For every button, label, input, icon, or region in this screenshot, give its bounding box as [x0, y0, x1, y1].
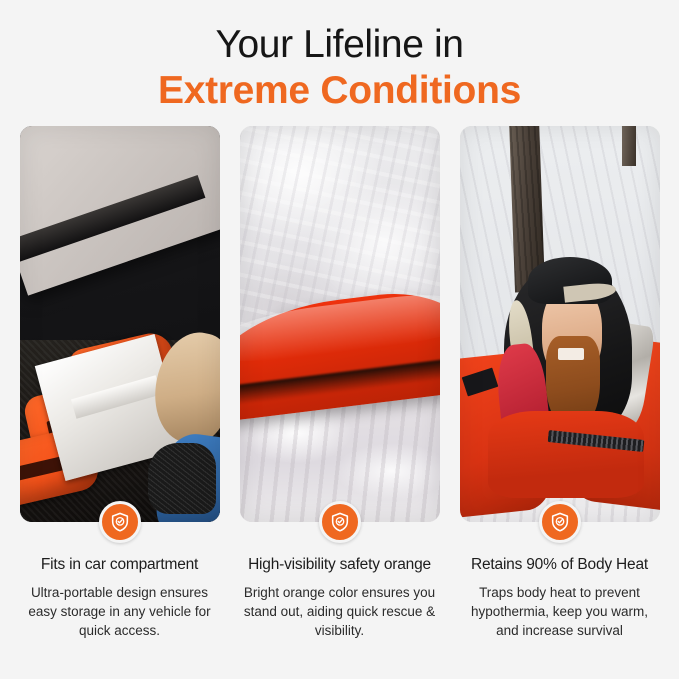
shield-check-badge: [539, 501, 581, 543]
photo3-bivvy-center: [488, 411, 644, 498]
feature-description: Ultra-portable design ensures easy stora…: [14, 583, 226, 640]
feature-column-2: High-visibility safety orange Bright ora…: [240, 126, 440, 640]
feature-badge-2: [319, 501, 361, 543]
feature-columns: Fits in car compartment Ultra-portable d…: [0, 126, 679, 640]
feature-title: Retains 90% of Body Heat: [454, 555, 666, 575]
feature-title: High-visibility safety orange: [234, 555, 446, 575]
shield-check-badge: [319, 501, 361, 543]
feature-photo-person-in-bivvy: [460, 126, 660, 522]
feature-badge-1: [99, 501, 141, 543]
shield-check-icon: [329, 511, 351, 533]
heading-line-primary: Your Lifeline in: [0, 22, 679, 67]
photo3-tree-trunk-far: [622, 126, 636, 166]
shield-check-icon: [109, 511, 131, 533]
feature-caption-3: Retains 90% of Body Heat Traps body heat…: [454, 555, 666, 640]
feature-badge-3: [539, 501, 581, 543]
feature-photo-car-compartment: [20, 126, 220, 522]
page-title: Your Lifeline in Extreme Conditions: [0, 0, 679, 114]
shield-check-icon: [549, 511, 571, 533]
feature-caption-2: High-visibility safety orange Bright ora…: [234, 555, 446, 640]
product-feature-page: Your Lifeline in Extreme Conditions: [0, 0, 679, 679]
shield-check-badge: [99, 501, 141, 543]
photo1-shoe: [148, 443, 216, 514]
feature-column-3: Retains 90% of Body Heat Traps body heat…: [460, 126, 660, 640]
heading-line-accent: Extreme Conditions: [0, 67, 679, 114]
feature-caption-1: Fits in car compartment Ultra-portable d…: [14, 555, 226, 640]
feature-title: Fits in car compartment: [14, 555, 226, 575]
feature-column-1: Fits in car compartment Ultra-portable d…: [20, 126, 220, 640]
feature-photo-orange-bivvy-snow: [240, 126, 440, 522]
feature-description: Traps body heat to prevent hypothermia, …: [454, 583, 666, 640]
photo3-smile: [558, 348, 584, 360]
feature-description: Bright orange color ensures you stand ou…: [234, 583, 446, 640]
